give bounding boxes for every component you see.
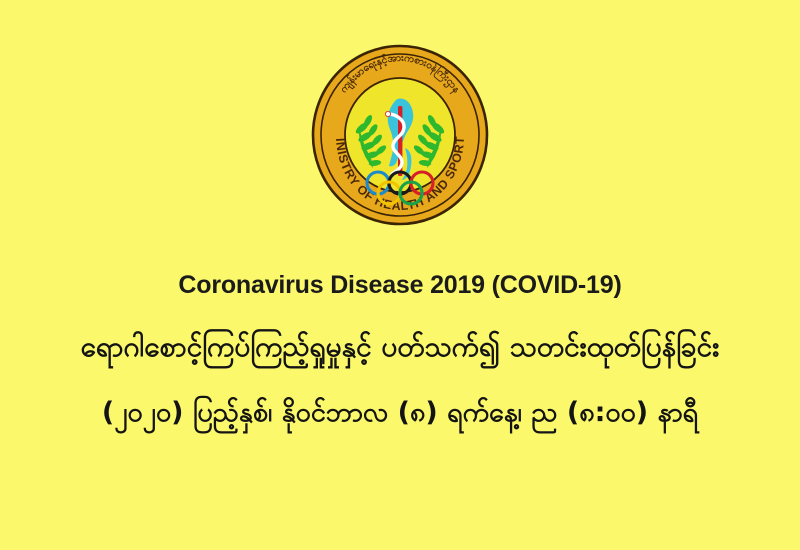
ministry-logo: ကျန်းမာရေးနှင့်အားကစားဝန်ကြီးဌာန MINISTR… (310, 44, 490, 226)
announcement-datetime: (၂၀၂၀) ပြည့်နှစ်၊ နိုဝင်ဘာလ (၈) ရက်နေ့၊ … (0, 393, 800, 432)
announcement-text-block: Coronavirus Disease 2019 (COVID-19) ရောဂ… (0, 272, 800, 432)
page-title: Coronavirus Disease 2019 (COVID-19) (0, 272, 800, 300)
announcement-subject: ရောဂါစောင့်ကြပ်ကြည့်ရှုမှုနှင့် ပတ်သက်၍ … (0, 327, 800, 368)
announcement-poster: ကျန်းမာရေးနှင့်အားကစားဝန်ကြီးဌာန MINISTR… (0, 0, 800, 550)
ministry-seal-icon: ကျန်းမာရေးနှင့်အားကစားဝန်ကြီးဌာန MINISTR… (310, 44, 490, 226)
serpent-head-icon (385, 111, 390, 116)
